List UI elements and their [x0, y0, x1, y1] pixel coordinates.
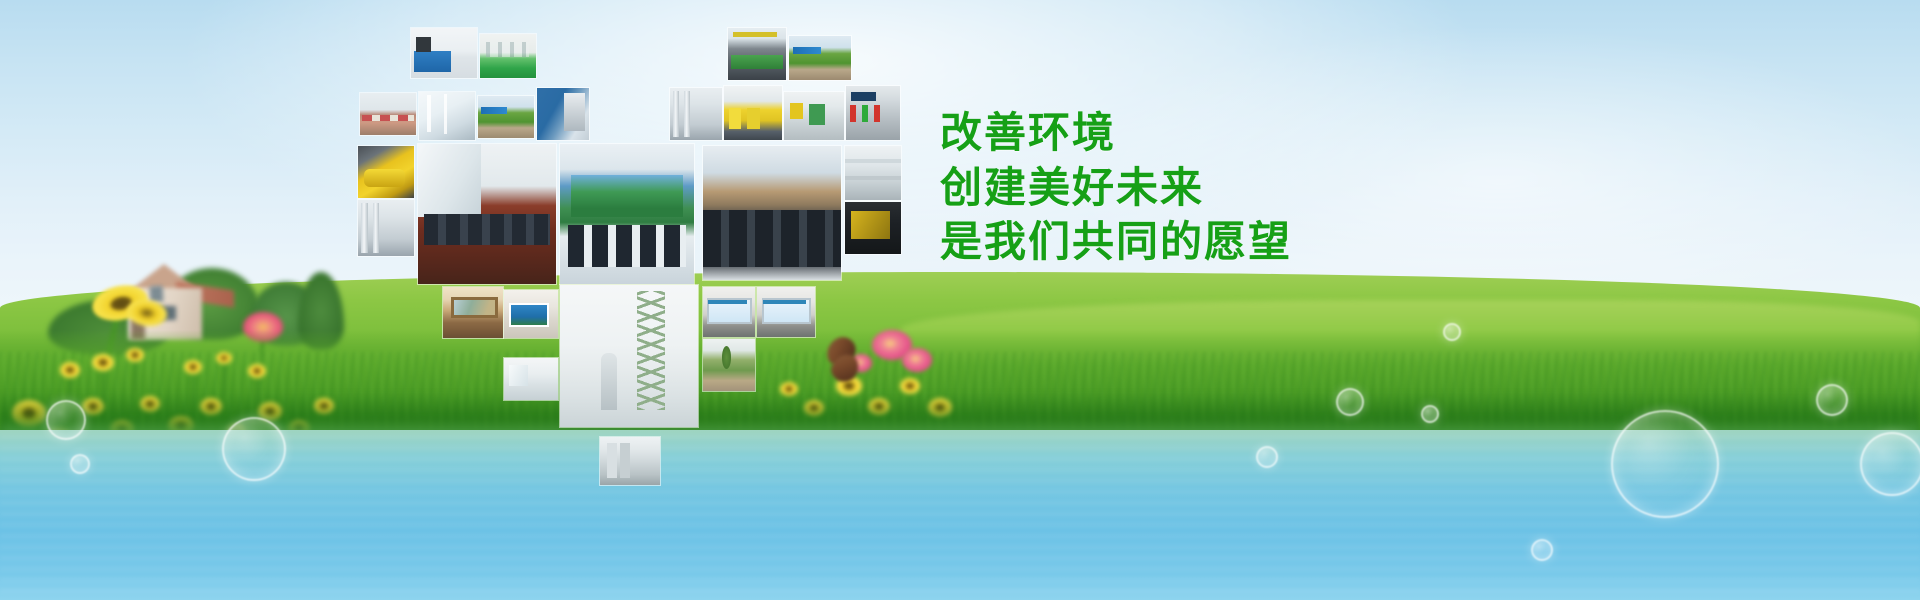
photo-image — [757, 287, 815, 337]
mosaic-photo — [789, 36, 851, 80]
photo-image — [600, 437, 660, 485]
mosaic-photo — [560, 144, 694, 284]
photo-image — [480, 34, 536, 78]
mosaic-photo — [537, 88, 589, 140]
mosaic-photo — [480, 34, 536, 78]
mosaic-photo — [600, 437, 660, 485]
mosaic-photo — [784, 92, 844, 140]
mosaic-photo — [703, 339, 755, 391]
mosaic-photo — [703, 287, 755, 337]
photo-image — [784, 92, 844, 140]
photo-image — [846, 86, 900, 140]
photo-image — [845, 202, 901, 254]
photo-image — [360, 93, 416, 135]
photo-image — [418, 144, 556, 284]
mosaic-photo — [443, 287, 503, 338]
slogan-line-1: 改善环境 — [940, 106, 1460, 161]
photo-image — [703, 339, 755, 391]
mosaic-photo — [360, 93, 416, 135]
photo-image — [560, 144, 694, 284]
mosaic-photo — [418, 144, 556, 284]
photo-image — [411, 28, 477, 78]
slogan-line-2: 创建美好未来 — [940, 161, 1460, 216]
mosaic-photo — [560, 285, 698, 427]
photo-image — [724, 86, 782, 140]
mosaic-photo — [846, 86, 900, 140]
mosaic-photo — [411, 28, 477, 78]
photo-image — [728, 28, 786, 80]
photo-image — [703, 287, 755, 337]
photo-image — [504, 358, 558, 400]
photo-image — [478, 96, 534, 138]
hero-banner: 改善环境 创建美好未来 是我们共同的愿望 — [0, 0, 1920, 600]
photo-image — [789, 36, 851, 80]
photo-image — [443, 287, 503, 338]
mosaic-photo — [724, 86, 782, 140]
mosaic-photo — [845, 202, 901, 254]
photo-image — [358, 146, 414, 198]
mosaic-photo — [757, 287, 815, 337]
photo-image — [845, 146, 901, 200]
slogan-block: 改善环境 创建美好未来 是我们共同的愿望 — [940, 106, 1460, 270]
photo-image — [670, 88, 722, 140]
mosaic-photo — [504, 358, 558, 400]
mosaic-photo — [504, 290, 558, 338]
photo-image — [537, 88, 589, 140]
photo-image — [560, 285, 698, 427]
slogan-line-3: 是我们共同的愿望 — [940, 215, 1460, 270]
mosaic-photo — [845, 146, 901, 200]
mosaic-photo — [703, 146, 841, 280]
mosaic-photo — [358, 146, 414, 198]
photo-image — [703, 146, 841, 280]
mosaic-photo — [419, 92, 475, 140]
mosaic-photo — [358, 200, 414, 256]
photo-mosaic — [0, 0, 1920, 600]
photo-image — [504, 290, 558, 338]
mosaic-photo — [670, 88, 722, 140]
photo-image — [419, 92, 475, 140]
mosaic-photo — [728, 28, 786, 80]
mosaic-photo — [478, 96, 534, 138]
photo-image — [358, 200, 414, 256]
